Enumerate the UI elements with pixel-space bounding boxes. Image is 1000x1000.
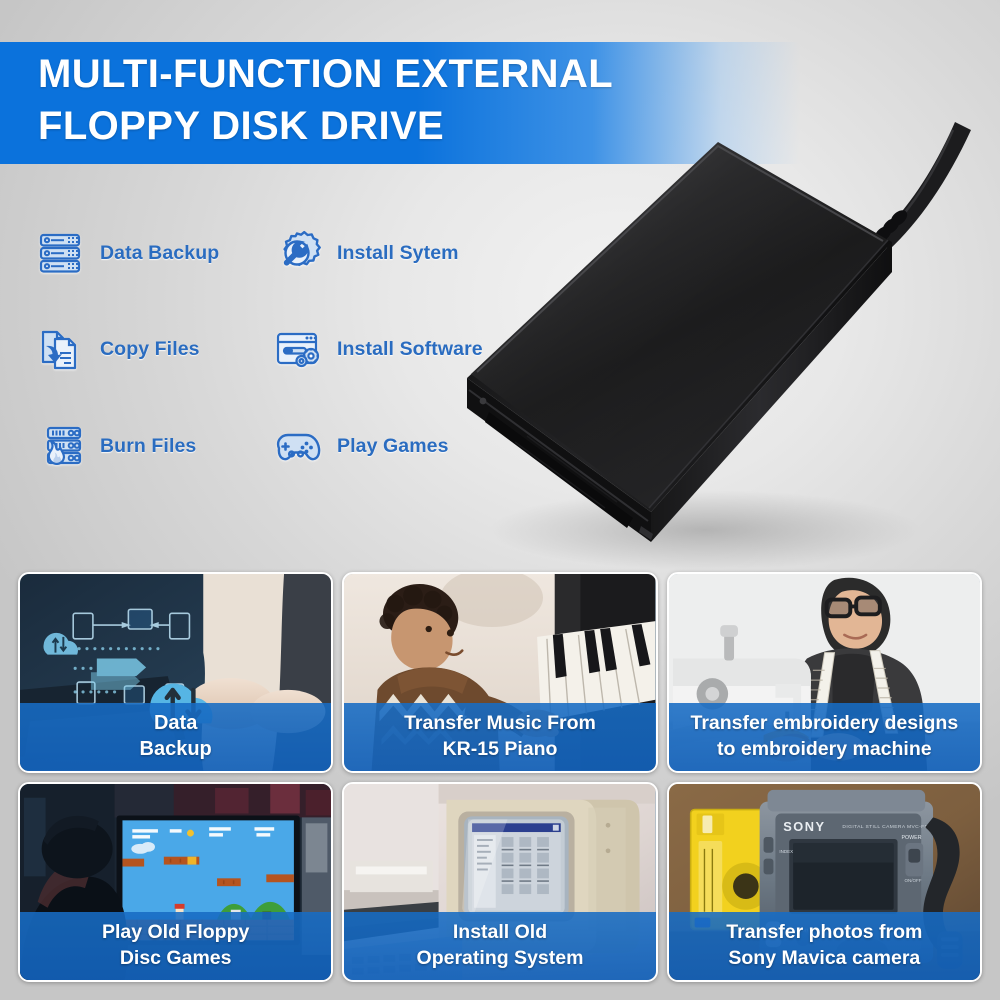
card-caption: Data Backup [20, 703, 331, 771]
svg-text:INDEX: INDEX [779, 848, 793, 853]
feature-item-install-software: Install Software [269, 302, 502, 399]
feature-item-data-backup: Data Backup [32, 205, 265, 302]
svg-text:POWER: POWER [901, 835, 921, 841]
card-transfer-music[interactable]: Transfer Music From KR-15 Piano [342, 572, 657, 773]
server-stack-icon [32, 225, 88, 281]
feature-label: Burn Files [100, 435, 196, 458]
card-embroidery[interactable]: Transfer embroidery designs to embroider… [667, 572, 982, 773]
card-caption: Transfer Music From KR-15 Piano [344, 703, 655, 771]
feature-item-burn-files: Burn Files [32, 398, 265, 495]
product-image: Chuanganzhuo [455, 60, 1000, 580]
svg-text:ON/OFF: ON/OFF [904, 878, 921, 883]
gear-wrench-icon [269, 225, 325, 281]
gamepad-icon [269, 419, 325, 475]
card-caption: Play Old Floppy Disc Games [20, 912, 331, 980]
copy-files-icon [32, 322, 88, 378]
card-caption: Transfer photos from Sony Mavica camera [669, 912, 980, 980]
svg-text:SONY: SONY [783, 819, 825, 834]
use-case-gallery: Data Backup [18, 572, 982, 982]
feature-label: Install Sytem [337, 242, 459, 265]
feature-label: Copy Files [100, 338, 200, 361]
card-caption: Install Old Operating System [344, 912, 655, 980]
svg-text:DIGITAL STILL CAMERA MVC-FD5: DIGITAL STILL CAMERA MVC-FD5 [842, 824, 931, 830]
feature-label: Data Backup [100, 242, 219, 265]
feature-item-install-system: Install Sytem [269, 205, 502, 302]
card-mavica-photos[interactable]: SONY DIGITAL STILL CAMERA MVC-FD5 POWER … [667, 782, 982, 983]
feature-list: Data Backup Install Sytem [32, 205, 502, 495]
server-flame-icon [32, 419, 88, 475]
card-caption: Transfer embroidery designs to embroider… [669, 703, 980, 771]
product-infographic: MULTI-FUNCTION EXTERNAL FLOPPY DISK DRIV… [0, 0, 1000, 1000]
feature-item-play-games: Play Games [269, 398, 502, 495]
feature-label: Install Software [337, 338, 483, 361]
card-install-os[interactable]: Install Old Operating System [342, 782, 657, 983]
card-data-backup[interactable]: Data Backup [18, 572, 333, 773]
feature-label: Play Games [337, 435, 449, 458]
browser-gears-icon [269, 322, 325, 378]
card-play-games[interactable]: Play Old Floppy Disc Games [18, 782, 333, 983]
feature-item-copy-files: Copy Files [32, 302, 265, 399]
